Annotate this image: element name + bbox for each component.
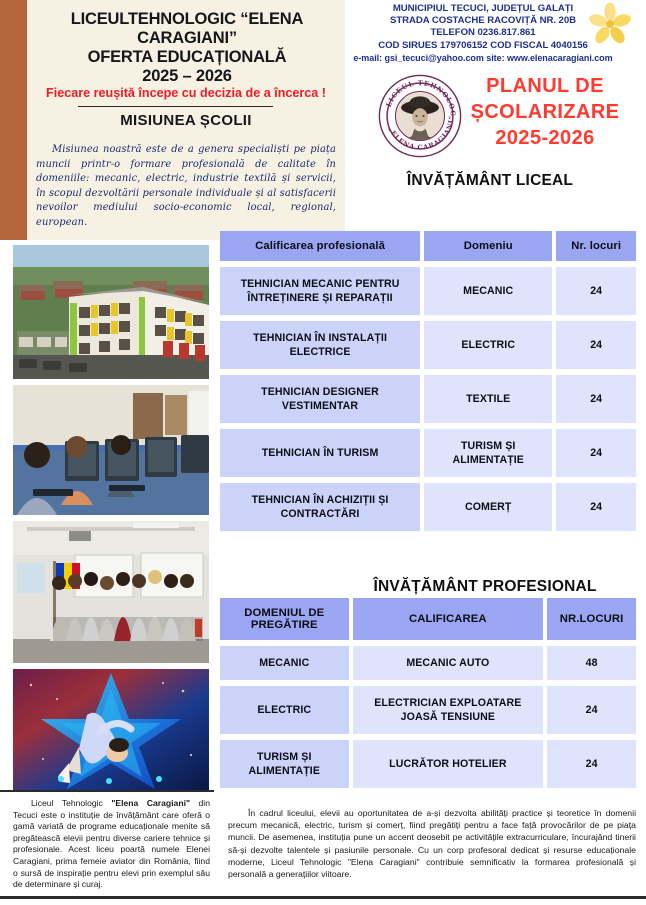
section-heading-profesional: ÎNVĂȚĂMÂNT PROFESIONAL — [330, 578, 640, 596]
poster-page: LICEULTEHNOLOGIC “ELENA CARAGIANI” OFERT… — [0, 0, 646, 905]
table-header-row: Calificarea profesională Domeniu Nr. loc… — [220, 231, 636, 261]
table-row: TEHNICIAN ÎN ACHIZIȚII ȘI CONTRACTĂRI CO… — [220, 483, 636, 531]
contact-street: STRADA COSTACHE RACOVIȚĂ NR. 20B — [348, 15, 618, 27]
cell-locuri: 24 — [556, 375, 636, 423]
section-heading-liceal: ÎNVĂȚĂMÂNT LICEAL — [345, 172, 635, 190]
th-domeniu: Domeniu — [424, 231, 552, 261]
bottom-border — [0, 896, 646, 899]
cell-domeniu: MECANIC — [424, 267, 552, 315]
cell-locuri: 24 — [556, 429, 636, 477]
cell-calificare: TEHNICIAN ÎN INSTALAȚII ELECTRICE — [220, 321, 420, 369]
th-calificarea: CALIFICAREA — [353, 598, 544, 640]
contact-address-city: MUNICIPIUL TECUCI, JUDEȚUL GALAȚI — [348, 3, 618, 15]
title-line-2: CARAGIANI” — [32, 29, 342, 48]
th-nr-locuri: Nr. locuri — [556, 231, 636, 261]
contact-codes: COD SIRUES 179706152 COD FISCAL 4040156 — [348, 40, 618, 52]
cell-calificare: TEHNICIAN ÎN ACHIZIȚII ȘI CONTRACTĂRI — [220, 483, 420, 531]
about-rest: din Tecuci este o instituție de învățămâ… — [13, 798, 210, 889]
cell-calificare: LUCRĂTOR HOTELIER — [353, 740, 544, 788]
contact-phone: TELEFON 0236.817.861 — [348, 27, 618, 39]
plan-title: PLANUL DE ȘCOLARIZARE 2025-2026 — [455, 73, 635, 151]
photo-computer-lab — [13, 385, 209, 515]
page-title: LICEULTEHNOLOGIC “ELENA CARAGIANI” OFERT… — [32, 10, 342, 86]
plan-line-2: ȘCOLARIZARE — [455, 99, 635, 125]
opportunities-paragraph: În cadrul liceului, elevii au oportunita… — [228, 807, 636, 880]
contact-email-site[interactable]: e-mail: gsi_tecuci@yahoo.com site: www.e… — [348, 52, 618, 64]
title-line-3: OFERTA EDUCAȚIONALĂ — [32, 48, 342, 67]
cell-domeniu: ELECTRIC — [220, 686, 349, 734]
cell-locuri: 24 — [547, 686, 636, 734]
cell-locuri: 24 — [556, 483, 636, 531]
photo-students-costumes — [13, 521, 209, 663]
cell-calificare: TEHNICIAN DESIGNER VESTIMENTAR — [220, 375, 420, 423]
contact-block: MUNICIPIUL TECUCI, JUDEȚUL GALAȚI STRADA… — [348, 3, 618, 64]
cell-domeniu: COMERȚ — [424, 483, 552, 531]
cell-calificare: ELECTRICIAN EXPLOATARE JOASĂ TENSIUNE — [353, 686, 544, 734]
table-row: TEHNICIAN DESIGNER VESTIMENTAR TEXTILE 2… — [220, 375, 636, 423]
plan-line-1: PLANUL DE — [455, 73, 635, 99]
table-row: ELECTRIC ELECTRICIAN EXPLOATARE JOASĂ TE… — [220, 686, 636, 734]
about-pre: Liceul Tehnologic — [31, 798, 111, 808]
table-header-row: DOMENIUL DE PREGĂTIRE CALIFICAREA NR.LOC… — [220, 598, 636, 640]
table-row: MECANIC MECANIC AUTO 48 — [220, 646, 636, 680]
mission-text: Misiunea noastră este de a genera specia… — [36, 143, 336, 231]
table-liceal: Calificarea profesională Domeniu Nr. loc… — [216, 225, 640, 537]
cell-locuri: 48 — [547, 646, 636, 680]
cell-domeniu: TURISM ȘI ALIMENTAȚIE — [220, 740, 349, 788]
cell-calificare: MECANIC AUTO — [353, 646, 544, 680]
cell-domeniu: ELECTRIC — [424, 321, 552, 369]
cell-calificare: TEHNICIAN MECANIC PENTRU ÎNTREȚINERE ȘI … — [220, 267, 420, 315]
school-logo-seal: LICEUL TEHNOLOGIC „ELENA CARAGIANI” — [378, 74, 462, 158]
th-domeniul-pregatire: DOMENIUL DE PREGĂTIRE — [220, 598, 349, 640]
table-profesional: DOMENIUL DE PREGĂTIRE CALIFICAREA NR.LOC… — [216, 592, 640, 794]
mission-heading: MISIUNEA ȘCOLII — [27, 112, 345, 129]
photo-school-building — [13, 245, 209, 379]
th-nr-locuri: NR.LOCURI — [547, 598, 636, 640]
title-divider — [78, 106, 273, 107]
cell-locuri: 24 — [556, 267, 636, 315]
cell-domeniu: TURISM ȘI ALIMENTAȚIE — [424, 429, 552, 477]
about-school-paragraph: Liceul Tehnologic "Elena Caragiani" din … — [13, 798, 210, 891]
table-row: TEHNICIAN ÎN TURISM TURISM ȘI ALIMENTAȚI… — [220, 429, 636, 477]
school-motto: Fiecare reușită începe cu decizia de a î… — [27, 86, 345, 100]
plan-line-3: 2025-2026 — [455, 125, 635, 151]
about-school-name: "Elena Caragiani" — [111, 798, 190, 808]
title-line-1: LICEULTEHNOLOGIC “ELENA — [32, 10, 342, 29]
title-line-4: 2025 – 2026 — [32, 67, 342, 86]
table-row: TEHNICIAN ÎN INSTALAȚII ELECTRICE ELECTR… — [220, 321, 636, 369]
left-decor-bar — [0, 0, 27, 240]
photo-dance-performance — [13, 669, 209, 791]
flower-icon — [586, 2, 634, 46]
table-row: TURISM ȘI ALIMENTAȚIE LUCRĂTOR HOTELIER … — [220, 740, 636, 788]
th-calificarea: Calificarea profesională — [220, 231, 420, 261]
cell-domeniu: MECANIC — [220, 646, 349, 680]
cell-domeniu: TEXTILE — [424, 375, 552, 423]
cell-locuri: 24 — [556, 321, 636, 369]
cell-locuri: 24 — [547, 740, 636, 788]
bottom-left-divider — [0, 790, 214, 792]
cell-calificare: TEHNICIAN ÎN TURISM — [220, 429, 420, 477]
table-row: TEHNICIAN MECANIC PENTRU ÎNTREȚINERE ȘI … — [220, 267, 636, 315]
